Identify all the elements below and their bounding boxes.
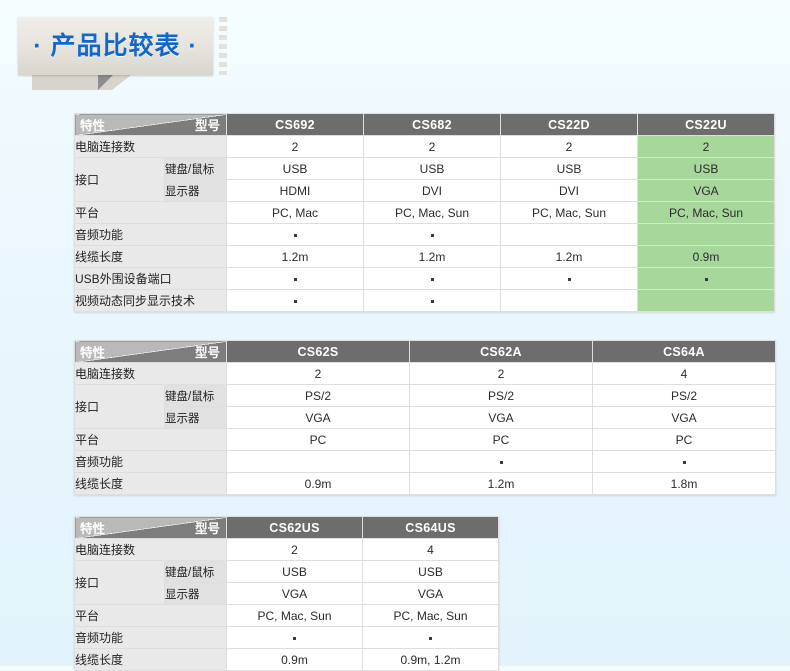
table-row: 电脑连接数224 bbox=[75, 363, 776, 385]
table-cell-value: 1.2m bbox=[410, 473, 593, 495]
feature-label: 平台 bbox=[75, 202, 227, 224]
feature-label: 平台 bbox=[75, 429, 227, 451]
table-cell-value: PC, Mac bbox=[227, 202, 364, 224]
table-cell-value: VGA bbox=[593, 407, 776, 429]
feature-label: 视频动态同步显示技术 bbox=[75, 290, 227, 312]
table-cell-dot bbox=[410, 451, 593, 473]
table-cell-value: USB bbox=[638, 158, 775, 180]
table-cell-value: PC, Mac, Sun bbox=[363, 605, 499, 627]
table-cell-value: USB bbox=[227, 158, 364, 180]
banner-sawtooth-edge bbox=[219, 17, 227, 75]
feature-sublabel: 显示器 bbox=[165, 180, 227, 202]
table-row: 接口键盘/鼠标PS/2PS/2PS/2 bbox=[75, 385, 776, 407]
table-cell-value: PC, Mac, Sun bbox=[227, 605, 363, 627]
feature-label: 音频功能 bbox=[75, 627, 227, 649]
table-cell-value: PC, Mac, Sun bbox=[638, 202, 775, 224]
table-cell-value: USB bbox=[364, 158, 501, 180]
header-corner-split-cell: 型号特性 bbox=[75, 114, 227, 136]
column-header-cs62s[interactable]: CS62S bbox=[227, 341, 410, 363]
table-cell-value bbox=[501, 290, 638, 312]
table-cell-value: USB bbox=[501, 158, 638, 180]
table-cell-dot bbox=[227, 627, 363, 649]
table-cell-value: DVI bbox=[364, 180, 501, 202]
table-cell-value: VGA bbox=[227, 583, 363, 605]
feature-label: 线缆长度 bbox=[75, 473, 227, 495]
table-cell-dot bbox=[364, 290, 501, 312]
header-corner-split-cell: 型号特性 bbox=[75, 517, 227, 539]
table-cell-value: PC bbox=[593, 429, 776, 451]
table-cell-value: 0.9m bbox=[638, 246, 775, 268]
table-cell-value: USB bbox=[227, 561, 363, 583]
table-row: 线缆长度1.2m1.2m1.2m0.9m bbox=[75, 246, 775, 268]
feature-supported-dot bbox=[431, 234, 434, 237]
table-row: 电脑连接数24 bbox=[75, 539, 499, 561]
table-cell-dot bbox=[364, 224, 501, 246]
table-cell-dot bbox=[501, 268, 638, 290]
feature-sublabel: 键盘/鼠标 bbox=[165, 385, 227, 407]
feature-supported-dot bbox=[568, 278, 571, 281]
table-cell-value bbox=[501, 224, 638, 246]
header-model-label: 型号 bbox=[195, 115, 220, 134]
feature-label: 音频功能 bbox=[75, 224, 227, 246]
table-row: 平台PCPCPC bbox=[75, 429, 776, 451]
table-cell-value: 0.9m, 1.2m bbox=[363, 649, 499, 671]
feature-supported-dot bbox=[705, 278, 708, 281]
table-cell-value: 2 bbox=[501, 136, 638, 158]
feature-label: 音频功能 bbox=[75, 451, 227, 473]
table-cell-value bbox=[638, 224, 775, 246]
column-header-cs22u[interactable]: CS22U bbox=[638, 114, 775, 136]
table-cell-value: PS/2 bbox=[227, 385, 410, 407]
table-cell-value bbox=[227, 451, 410, 473]
table-row: 音频功能 bbox=[75, 451, 776, 473]
table-cell-value: PC, Mac, Sun bbox=[501, 202, 638, 224]
table-row: 音频功能 bbox=[75, 627, 499, 649]
feature-supported-dot bbox=[431, 278, 434, 281]
table-row: 显示器VGAVGAVGA bbox=[75, 407, 776, 429]
header-model-label: 型号 bbox=[195, 342, 220, 361]
table-cell-value: DVI bbox=[501, 180, 638, 202]
column-header-cs62us[interactable]: CS62US bbox=[227, 517, 363, 539]
feature-label: 电脑连接数 bbox=[75, 363, 227, 385]
table-cell-dot bbox=[593, 451, 776, 473]
table-cell-value: 2 bbox=[227, 363, 410, 385]
feature-supported-dot bbox=[294, 278, 297, 281]
table-cell-value: 0.9m bbox=[227, 649, 363, 671]
table-row: 视频动态同步显示技术 bbox=[75, 290, 775, 312]
table-cell-value: 0.9m bbox=[227, 473, 410, 495]
feature-label: 线缆长度 bbox=[75, 246, 227, 268]
table-row: 接口键盘/鼠标USBUSBUSBUSB bbox=[75, 158, 775, 180]
comparison-table-1: 型号特性CS692CS682CS22DCS22U电脑连接数2222接口键盘/鼠标… bbox=[74, 113, 775, 312]
header-feature-label: 特性 bbox=[80, 518, 105, 537]
table-cell-value: VGA bbox=[638, 180, 775, 202]
table-header-row: 型号特性CS62USCS64US bbox=[75, 517, 499, 539]
table-cell-dot bbox=[227, 268, 364, 290]
comparison-table-3: 型号特性CS62USCS64US电脑连接数24接口键盘/鼠标USBUSB显示器V… bbox=[74, 516, 499, 671]
table-row: USB外围设备端口 bbox=[75, 268, 775, 290]
table-cell-dot bbox=[364, 268, 501, 290]
table-cell-value: 1.2m bbox=[501, 246, 638, 268]
feature-label-group: 接口 bbox=[75, 561, 165, 605]
feature-supported-dot bbox=[429, 637, 432, 640]
header-corner-split-cell: 型号特性 bbox=[75, 341, 227, 363]
table-cell-value: HDMI bbox=[227, 180, 364, 202]
feature-label: USB外围设备端口 bbox=[75, 268, 227, 290]
table-cell-value: VGA bbox=[363, 583, 499, 605]
table-header-row: 型号特性CS62SCS62ACS64A bbox=[75, 341, 776, 363]
feature-supported-dot bbox=[294, 300, 297, 303]
feature-supported-dot bbox=[500, 461, 503, 464]
column-header-cs682[interactable]: CS682 bbox=[364, 114, 501, 136]
page-title: · 产品比较表 · bbox=[18, 17, 213, 75]
feature-label: 电脑连接数 bbox=[75, 539, 227, 561]
table-cell-dot bbox=[638, 268, 775, 290]
feature-supported-dot bbox=[683, 461, 686, 464]
feature-supported-dot bbox=[431, 300, 434, 303]
table-cell-dot bbox=[227, 224, 364, 246]
header-model-label: 型号 bbox=[195, 518, 220, 537]
table-cell-value: PC, Mac, Sun bbox=[364, 202, 501, 224]
column-header-cs64us[interactable]: CS64US bbox=[363, 517, 499, 539]
table-cell-dot bbox=[363, 627, 499, 649]
table-cell-value: 2 bbox=[410, 363, 593, 385]
feature-supported-dot bbox=[293, 637, 296, 640]
table-cell-value: PS/2 bbox=[593, 385, 776, 407]
table-cell-value: VGA bbox=[410, 407, 593, 429]
feature-label: 电脑连接数 bbox=[75, 136, 227, 158]
table-row: 线缆长度0.9m1.2m1.8m bbox=[75, 473, 776, 495]
table-cell-value: 4 bbox=[363, 539, 499, 561]
table-cell-value: 4 bbox=[593, 363, 776, 385]
column-header-cs64a[interactable]: CS64A bbox=[593, 341, 776, 363]
column-header-cs692[interactable]: CS692 bbox=[227, 114, 364, 136]
table-cell-value: 2 bbox=[638, 136, 775, 158]
table-header-row: 型号特性CS692CS682CS22DCS22U bbox=[75, 114, 775, 136]
table-row: 音频功能 bbox=[75, 224, 775, 246]
table-row: 接口键盘/鼠标USBUSB bbox=[75, 561, 499, 583]
feature-sublabel: 键盘/鼠标 bbox=[165, 561, 227, 583]
table-cell-value: 1.8m bbox=[593, 473, 776, 495]
table-cell-value: 1.2m bbox=[364, 246, 501, 268]
table-cell-value: PS/2 bbox=[410, 385, 593, 407]
table-cell-value bbox=[638, 290, 775, 312]
table-cell-value: 1.2m bbox=[227, 246, 364, 268]
feature-label-group: 接口 bbox=[75, 158, 165, 202]
feature-label: 平台 bbox=[75, 605, 227, 627]
table-cell-value: PC bbox=[227, 429, 410, 451]
page-title-banner: · 产品比较表 · bbox=[10, 12, 220, 90]
header-feature-label: 特性 bbox=[80, 115, 105, 134]
table-row: 电脑连接数2222 bbox=[75, 136, 775, 158]
table-row: 线缆长度0.9m0.9m, 1.2m bbox=[75, 649, 499, 671]
table-cell-value: 2 bbox=[227, 539, 363, 561]
header-feature-label: 特性 bbox=[80, 342, 105, 361]
comparison-table-2: 型号特性CS62SCS62ACS64A电脑连接数224接口键盘/鼠标PS/2PS… bbox=[74, 340, 776, 495]
feature-sublabel: 键盘/鼠标 bbox=[165, 158, 227, 180]
feature-sublabel: 显示器 bbox=[165, 583, 227, 605]
table-cell-value: 2 bbox=[227, 136, 364, 158]
table-cell-value: 2 bbox=[364, 136, 501, 158]
table-cell-value: USB bbox=[363, 561, 499, 583]
table-row: 平台PC, MacPC, Mac, SunPC, Mac, SunPC, Mac… bbox=[75, 202, 775, 224]
column-header-cs62a[interactable]: CS62A bbox=[410, 341, 593, 363]
table-cell-value: PC bbox=[410, 429, 593, 451]
feature-supported-dot bbox=[294, 234, 297, 237]
table-cell-value: VGA bbox=[227, 407, 410, 429]
table-row: 显示器HDMIDVIDVIVGA bbox=[75, 180, 775, 202]
feature-label: 线缆长度 bbox=[75, 649, 227, 671]
feature-label-group: 接口 bbox=[75, 385, 165, 429]
column-header-cs22d[interactable]: CS22D bbox=[501, 114, 638, 136]
table-row: 平台PC, Mac, SunPC, Mac, Sun bbox=[75, 605, 499, 627]
feature-sublabel: 显示器 bbox=[165, 407, 227, 429]
table-cell-dot bbox=[227, 290, 364, 312]
